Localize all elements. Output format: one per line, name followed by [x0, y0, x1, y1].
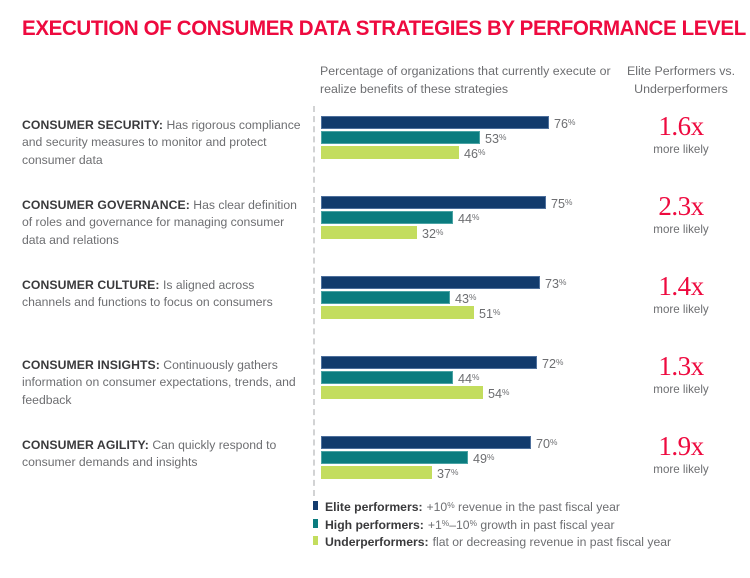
chart-row: CONSUMER INSIGHTS: Continuously gathers …: [0, 346, 750, 426]
bar-value-label: 53%: [485, 130, 506, 146]
chart-legend: Elite performers: +10% revenue in the pa…: [313, 500, 733, 553]
bar-value-number: 44: [458, 212, 472, 226]
bar-value-number: 72: [542, 357, 556, 371]
bar-value-label: 43%: [455, 290, 476, 306]
row-label: CONSUMER AGILITY: Can quickly respond to…: [22, 437, 304, 472]
ratio-value: 2.3x: [618, 192, 744, 221]
row-label-lead: CONSUMER SECURITY:: [22, 118, 163, 132]
percent-sign: %: [565, 197, 572, 207]
ratio-block: 1.3xmore likely: [618, 352, 744, 397]
bar-value-label: 37%: [437, 465, 458, 481]
legend-swatch-elite: [313, 501, 318, 510]
bar-elite: [321, 276, 540, 289]
bar-high: [321, 131, 480, 144]
bar-value-number: 70: [536, 437, 550, 451]
legend-description: +1%–10% growth in past fiscal year: [428, 518, 615, 532]
legend-label: High performers:: [325, 518, 424, 532]
percent-sign: %: [472, 212, 479, 222]
percent-sign: %: [559, 277, 566, 287]
bar-elite: [321, 116, 549, 129]
percent-sign: %: [556, 357, 563, 367]
bar-value-label: 32%: [422, 225, 443, 241]
bar-value-label: 54%: [488, 385, 509, 401]
percent-sign: %: [442, 518, 449, 528]
ratio-block: 1.9xmore likely: [618, 432, 744, 477]
row-label-lead: CONSUMER INSIGHTS:: [22, 358, 160, 372]
chart-row: CONSUMER SECURITY: Has rigorous complian…: [0, 106, 750, 186]
bar-under: [321, 466, 432, 479]
bar-value-number: 46: [464, 147, 478, 161]
ratio-caption: more likely: [618, 462, 744, 477]
bar-under: [321, 306, 474, 319]
page-title: EXECUTION OF CONSUMER DATA STRATEGIES BY…: [22, 16, 746, 41]
percent-sign: %: [472, 372, 479, 382]
legend-item: High performers: +1%–10% growth in past …: [313, 518, 733, 536]
percent-sign: %: [499, 132, 506, 142]
bar-value-number: 54: [488, 387, 502, 401]
ratio-caption: more likely: [618, 222, 744, 237]
bar-value-label: 70%: [536, 435, 557, 451]
legend-description: flat or decreasing revenue in past fisca…: [433, 535, 671, 549]
row-label: CONSUMER CULTURE: Is aligned across chan…: [22, 277, 304, 312]
bar-value-number: 73: [545, 277, 559, 291]
ratio-caption: more likely: [618, 142, 744, 157]
percent-sign: %: [469, 292, 476, 302]
bar-value-number: 76: [554, 117, 568, 131]
bar-value-label: 44%: [458, 370, 479, 386]
row-label: CONSUMER GOVERNANCE: Has clear definitio…: [22, 197, 304, 249]
bar-value-label: 46%: [464, 145, 485, 161]
percent-sign: %: [436, 227, 443, 237]
percent-sign: %: [447, 500, 454, 510]
bar-under: [321, 226, 417, 239]
bar-under: [321, 146, 459, 159]
percent-sign: %: [478, 147, 485, 157]
legend-swatch-high: [313, 519, 318, 528]
bar-elite: [321, 196, 546, 209]
ratio-value: 1.4x: [618, 272, 744, 301]
ratio-value: 1.3x: [618, 352, 744, 381]
bar-value-number: 53: [485, 132, 499, 146]
chart-row: CONSUMER GOVERNANCE: Has clear definitio…: [0, 186, 750, 266]
bar-under: [321, 386, 483, 399]
bar-value-number: 44: [458, 372, 472, 386]
bar-value-number: 43: [455, 292, 469, 306]
bar-value-number: 37: [437, 467, 451, 481]
chart-row: CONSUMER CULTURE: Is aligned across chan…: [0, 266, 750, 346]
bar-elite: [321, 356, 537, 369]
row-label: CONSUMER SECURITY: Has rigorous complian…: [22, 117, 304, 169]
percent-sign: %: [568, 117, 575, 127]
bar-value-number: 32: [422, 227, 436, 241]
ratio-block: 1.6xmore likely: [618, 112, 744, 157]
bar-high: [321, 451, 468, 464]
percent-sign: %: [550, 437, 557, 447]
bar-value-label: 72%: [542, 355, 563, 371]
bar-value-label: 73%: [545, 275, 566, 291]
right-column-heading: Elite Performers vs. Underperformers: [618, 63, 744, 98]
ratio-value: 1.9x: [618, 432, 744, 461]
bar-value-label: 75%: [551, 195, 572, 211]
bar-value-number: 49: [473, 452, 487, 466]
bar-value-number: 51: [479, 307, 493, 321]
legend-description: +10% revenue in the past fiscal year: [427, 500, 620, 514]
percent-sign: %: [470, 518, 477, 528]
percent-sign: %: [487, 452, 494, 462]
bar-value-number: 75: [551, 197, 565, 211]
ratio-caption: more likely: [618, 302, 744, 317]
chart-row: CONSUMER AGILITY: Can quickly respond to…: [0, 426, 750, 506]
legend-swatch-under: [313, 536, 318, 545]
row-label-lead: CONSUMER AGILITY:: [22, 438, 149, 452]
bar-value-label: 51%: [479, 305, 500, 321]
row-label-lead: CONSUMER GOVERNANCE:: [22, 198, 190, 212]
row-label-lead: CONSUMER CULTURE:: [22, 278, 160, 292]
bar-value-label: 76%: [554, 115, 575, 131]
bar-elite: [321, 436, 531, 449]
percent-sign: %: [502, 387, 509, 397]
ratio-caption: more likely: [618, 382, 744, 397]
bar-high: [321, 211, 453, 224]
ratio-block: 1.4xmore likely: [618, 272, 744, 317]
percent-sign: %: [451, 467, 458, 477]
percent-sign: %: [493, 307, 500, 317]
legend-item: Underperformers: flat or decreasing reve…: [313, 535, 733, 553]
legend-label: Elite performers:: [325, 500, 423, 514]
middle-column-heading: Percentage of organizations that current…: [320, 63, 620, 98]
bar-high: [321, 371, 453, 384]
ratio-block: 2.3xmore likely: [618, 192, 744, 237]
legend-item: Elite performers: +10% revenue in the pa…: [313, 500, 733, 518]
legend-label: Underperformers:: [325, 535, 429, 549]
ratio-value: 1.6x: [618, 112, 744, 141]
bar-value-label: 44%: [458, 210, 479, 226]
row-label: CONSUMER INSIGHTS: Continuously gathers …: [22, 357, 304, 409]
bar-value-label: 49%: [473, 450, 494, 466]
bar-high: [321, 291, 450, 304]
